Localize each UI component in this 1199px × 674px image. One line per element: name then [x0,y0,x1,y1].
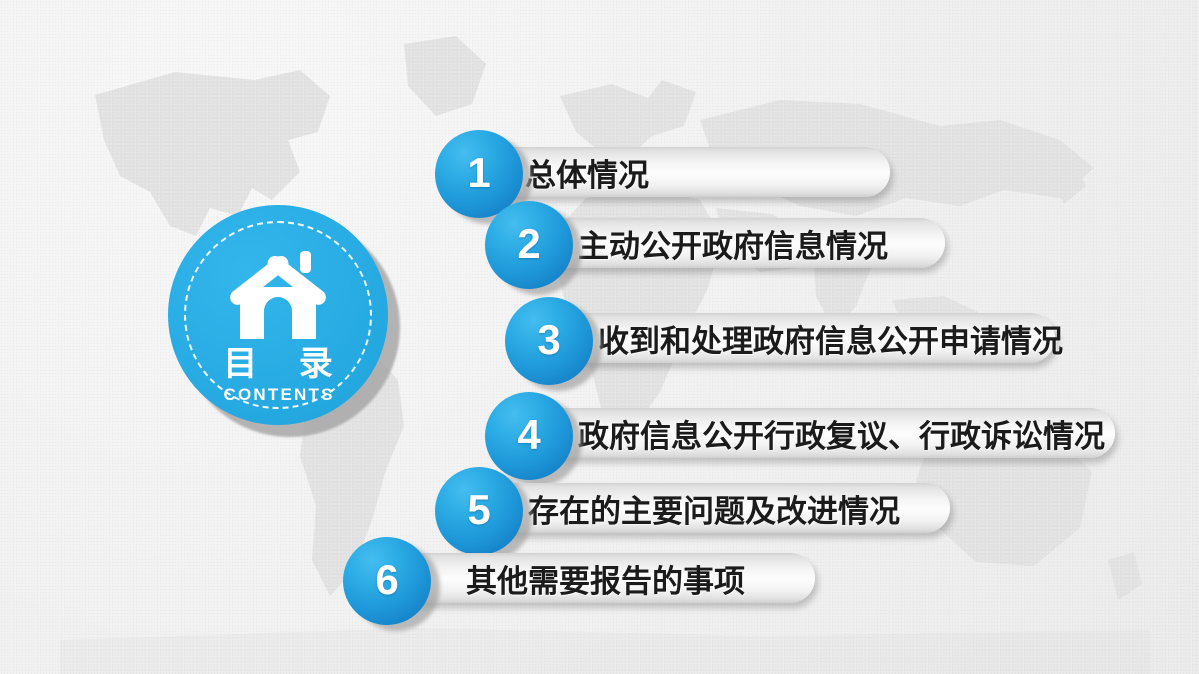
contents-number-5[interactable]: 5 [435,467,523,555]
contents-label-6: 其他需要报告的事项 [466,553,745,603]
contents-number-text-4: 4 [517,414,540,456]
home-icon [218,243,338,339]
badge-title-cn: 目 录 [168,345,388,383]
badge-title-en: CONTENTS [168,385,388,405]
contents-number-text-2: 2 [517,223,540,265]
slide-canvas: 目 录 CONTENTS 总体情况 1 主动公开政府信息情况 2 收到和处理政府… [0,0,1199,674]
contents-label-1: 总体情况 [525,147,649,197]
badge-circle: 目 录 CONTENTS [168,205,388,425]
contents-number-text-3: 3 [537,319,560,361]
contents-label-3: 收到和处理政府信息公开申请情况 [598,313,1063,363]
contents-badge: 目 录 CONTENTS [168,205,400,441]
contents-number-text-6: 6 [375,559,398,601]
contents-number-text-1: 1 [467,152,490,194]
contents-number-3[interactable]: 3 [505,297,593,385]
contents-number-6[interactable]: 6 [343,537,431,625]
contents-number-text-5: 5 [467,489,490,531]
contents-number-2[interactable]: 2 [485,201,573,289]
contents-number-4[interactable]: 4 [485,392,573,480]
contents-label-4: 政府信息公开行政复议、行政诉讼情况 [578,408,1105,458]
contents-label-2: 主动公开政府信息情况 [578,218,888,268]
contents-label-5: 存在的主要问题及改进情况 [528,483,900,533]
